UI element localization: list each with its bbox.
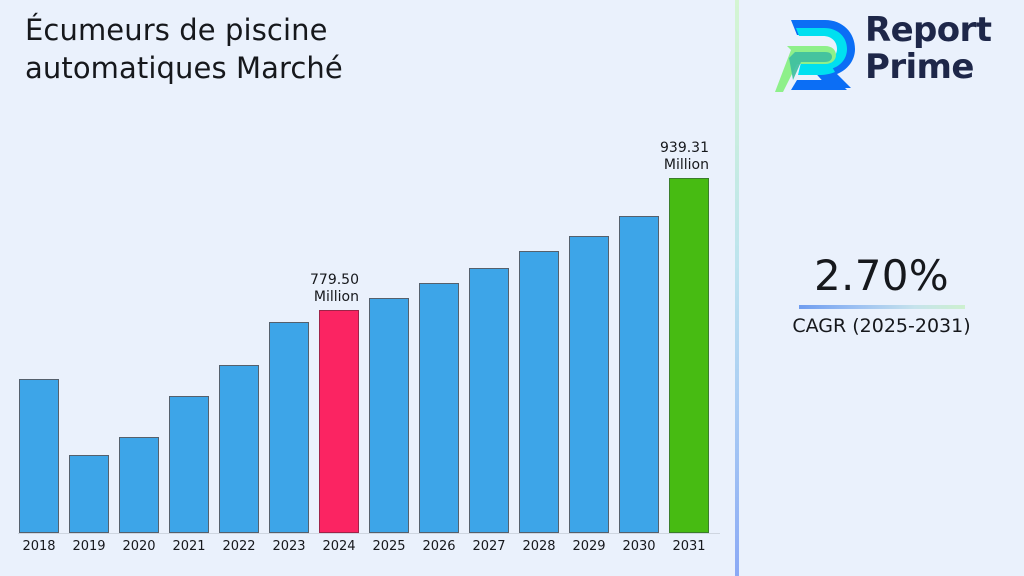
bar-2024[interactable]: 779.50 Million (319, 310, 359, 533)
bar-2018[interactable] (19, 379, 59, 533)
bar-2028[interactable] (519, 251, 559, 533)
bar-2029[interactable] (569, 236, 609, 533)
x-axis-baseline (18, 533, 720, 534)
bar-2023[interactable] (269, 322, 309, 533)
x-tick-label-2031: 2031 (662, 539, 716, 554)
bar-2030[interactable] (619, 216, 659, 533)
bar-2031[interactable]: 939.31 Million (669, 178, 709, 533)
bar-value-label-2024: 779.50 Million (249, 272, 359, 306)
x-tick-label-2018: 2018 (12, 539, 66, 554)
x-tick-label-2025: 2025 (362, 539, 416, 554)
x-tick-label-2029: 2029 (562, 539, 616, 554)
bar-rect-2028[interactable] (519, 251, 559, 533)
bar-rect-2019[interactable] (69, 455, 109, 533)
cagr-block: 2.70% CAGR (2025-2031) (739, 252, 1024, 338)
bar-2027[interactable] (469, 268, 509, 533)
cagr-value: 2.70% (739, 252, 1024, 299)
bar-rect-2024[interactable] (319, 310, 359, 533)
bar-2019[interactable] (69, 455, 109, 533)
x-tick-label-2019: 2019 (62, 539, 116, 554)
x-tick-label-2028: 2028 (512, 539, 566, 554)
bar-2026[interactable] (419, 283, 459, 533)
chart-panel: Écumeurs de piscine automatiques Marché … (0, 0, 737, 576)
report-prime-logo: Report Prime (775, 10, 1015, 96)
bar-rect-2025[interactable] (369, 298, 409, 533)
brand-wordmark: Report Prime (865, 12, 1015, 85)
bar-2022[interactable] (219, 365, 259, 533)
bar-chart-plot: 201820192020202120222023779.50 Million20… (0, 0, 737, 576)
bar-rect-2018[interactable] (19, 379, 59, 533)
bar-value-label-2031: 939.31 Million (599, 140, 709, 174)
bar-rect-2030[interactable] (619, 216, 659, 533)
bar-2025[interactable] (369, 298, 409, 533)
cagr-divider (799, 305, 965, 309)
bar-rect-2022[interactable] (219, 365, 259, 533)
report-prime-mark-icon (775, 14, 859, 94)
cagr-caption: CAGR (2025-2031) (739, 315, 1024, 338)
x-tick-label-2023: 2023 (262, 539, 316, 554)
x-tick-label-2020: 2020 (112, 539, 166, 554)
x-tick-label-2026: 2026 (412, 539, 466, 554)
x-tick-label-2022: 2022 (212, 539, 266, 554)
bar-rect-2029[interactable] (569, 236, 609, 533)
bar-rect-2021[interactable] (169, 396, 209, 533)
bar-rect-2031[interactable] (669, 178, 709, 533)
x-tick-label-2021: 2021 (162, 539, 216, 554)
bar-rect-2027[interactable] (469, 268, 509, 533)
x-tick-label-2030: 2030 (612, 539, 666, 554)
x-tick-label-2027: 2027 (462, 539, 516, 554)
bar-rect-2026[interactable] (419, 283, 459, 533)
bar-2021[interactable] (169, 396, 209, 533)
x-tick-label-2024: 2024 (312, 539, 366, 554)
bar-rect-2023[interactable] (269, 322, 309, 533)
bar-rect-2020[interactable] (119, 437, 159, 533)
bar-2020[interactable] (119, 437, 159, 533)
chart-page: Écumeurs de piscine automatiques Marché … (0, 0, 1024, 576)
brand-panel: Report Prime 2.70% CAGR (2025-2031) (739, 0, 1024, 576)
